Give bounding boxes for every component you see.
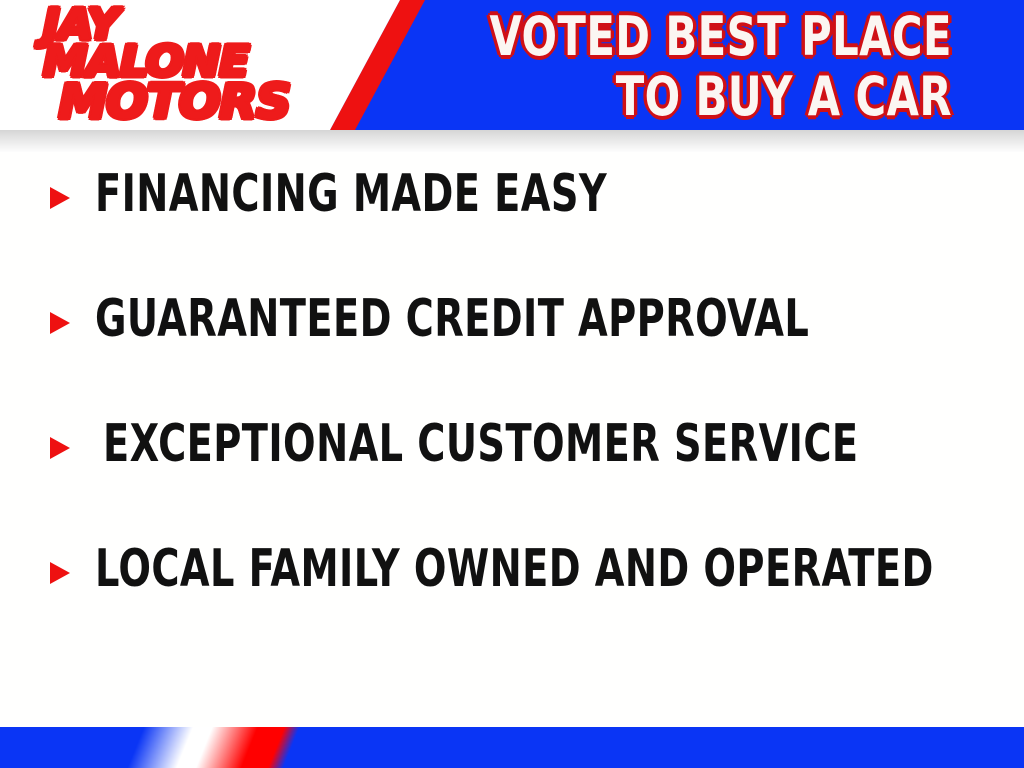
footer-band	[0, 727, 1024, 768]
brand-logo-line-2: MOTORS	[58, 83, 290, 123]
footer-diagonal-stripe	[122, 727, 338, 768]
triangle-bullet-icon	[50, 562, 70, 584]
triangle-bullet-icon	[50, 312, 70, 334]
header-band: JAY MALONE MOTORS VOTED BEST PLACE TO BU…	[0, 0, 1024, 130]
list-item: EXCEPTIONAL CUSTOMER SERVICE	[0, 418, 1024, 543]
list-item: FINANCING MADE EASY	[0, 168, 1024, 293]
brand-logo-line-1: JAY MALONE	[43, 7, 305, 81]
list-item: LOCAL FAMILY OWNED AND OPERATED	[0, 543, 1024, 668]
slide-root: JAY MALONE MOTORS VOTED BEST PLACE TO BU…	[0, 0, 1024, 768]
list-item-label: EXCEPTIONAL CUSTOMER SERVICE	[103, 418, 859, 470]
header-tagline-line-2: TO BUY A CAR	[436, 70, 952, 124]
header-drop-shadow	[0, 130, 1024, 152]
triangle-bullet-icon	[50, 187, 70, 209]
list-item-label: FINANCING MADE EASY	[95, 168, 607, 220]
brand-logo[interactable]: JAY MALONE MOTORS	[48, 14, 300, 116]
header-tagline: VOTED BEST PLACE TO BUY A CAR	[352, 10, 952, 124]
list-item-label: LOCAL FAMILY OWNED AND OPERATED	[95, 543, 934, 595]
list-item-label: GUARANTEED CREDIT APPROVAL	[95, 293, 809, 345]
benefits-list: FINANCING MADE EASY GUARANTEED CREDIT AP…	[0, 168, 1024, 668]
triangle-bullet-icon	[50, 437, 70, 459]
header-tagline-line-1: VOTED BEST PLACE	[436, 10, 952, 64]
list-item: GUARANTEED CREDIT APPROVAL	[0, 293, 1024, 418]
